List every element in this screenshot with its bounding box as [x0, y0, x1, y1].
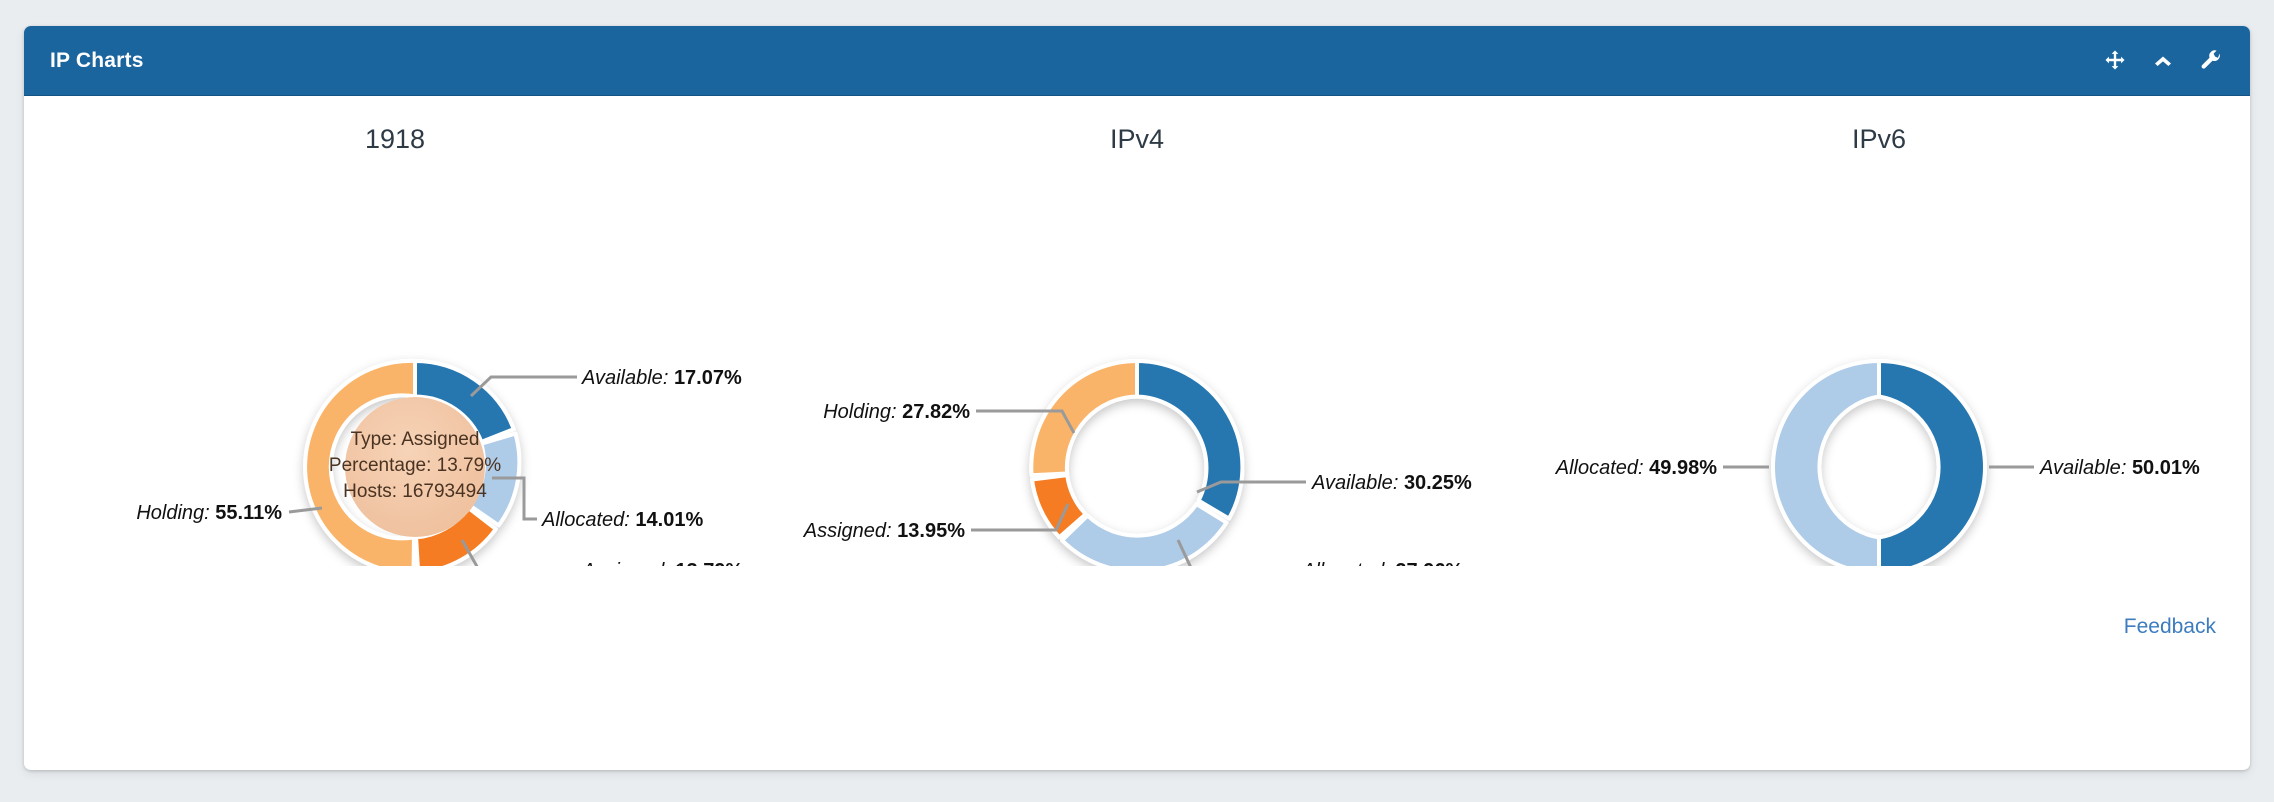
- tooltip-percentage: Percentage: 13.79%: [329, 455, 501, 476]
- chart-ipv4: IPv4: [766, 96, 1508, 566]
- donut-chart-ipv6: Available: 50.01% Allocated: 49.98%: [1508, 96, 2250, 566]
- label-allocated: Allocated: 27.96%: [1301, 560, 1463, 566]
- app-root: IP Charts: [0, 0, 2274, 802]
- label-allocated: Allocated: 14.01%: [541, 509, 703, 531]
- panel-body: 1918: [24, 96, 2250, 769]
- label-assigned: Assigned: 13.95%: [803, 520, 965, 542]
- panel-title: IP Charts: [50, 49, 144, 73]
- move-icon[interactable]: [2102, 48, 2128, 74]
- chevron-up-icon[interactable]: [2150, 48, 2176, 74]
- settings-wrench-icon[interactable]: [2198, 48, 2224, 74]
- label-holding: Holding: 27.82%: [823, 401, 970, 423]
- label-available: Available: 30.25%: [1311, 472, 1472, 494]
- ip-charts-panel: IP Charts: [24, 26, 2250, 770]
- chart-1918: 1918: [24, 96, 766, 566]
- tooltip-hosts: Hosts: 16793494: [343, 481, 487, 502]
- charts-row: 1918: [24, 96, 2250, 566]
- arc-allocated[interactable]: [1773, 361, 1879, 566]
- label-available: Available: 50.01%: [2039, 457, 2200, 479]
- arc-holding[interactable]: [1031, 361, 1137, 475]
- label-available: Available: 17.07%: [581, 367, 742, 389]
- donut-chart-ipv4: Available: 30.25% Allocated: 27.96% Assi…: [766, 96, 1508, 566]
- feedback-link[interactable]: Feedback: [2124, 615, 2216, 639]
- panel-tools: [2102, 48, 2224, 74]
- label-allocated: Allocated: 49.98%: [1555, 457, 1717, 479]
- tooltip-type: Type: Assigned: [351, 429, 480, 450]
- donut-chart-1918: Type: Assigned Percentage: 13.79% Hosts:…: [24, 96, 766, 566]
- donut-arcs-ipv4: [1031, 361, 1242, 566]
- panel-header: IP Charts: [24, 26, 2250, 96]
- donut-arcs-ipv6: [1773, 361, 1985, 566]
- label-assigned: Assigned: 13.79%: [581, 560, 743, 566]
- arc-available[interactable]: [1879, 361, 1985, 566]
- arc-available[interactable]: [1137, 361, 1242, 519]
- chart-ipv6: IPv6: [1508, 96, 2250, 566]
- label-holding: Holding: 55.11%: [136, 502, 282, 524]
